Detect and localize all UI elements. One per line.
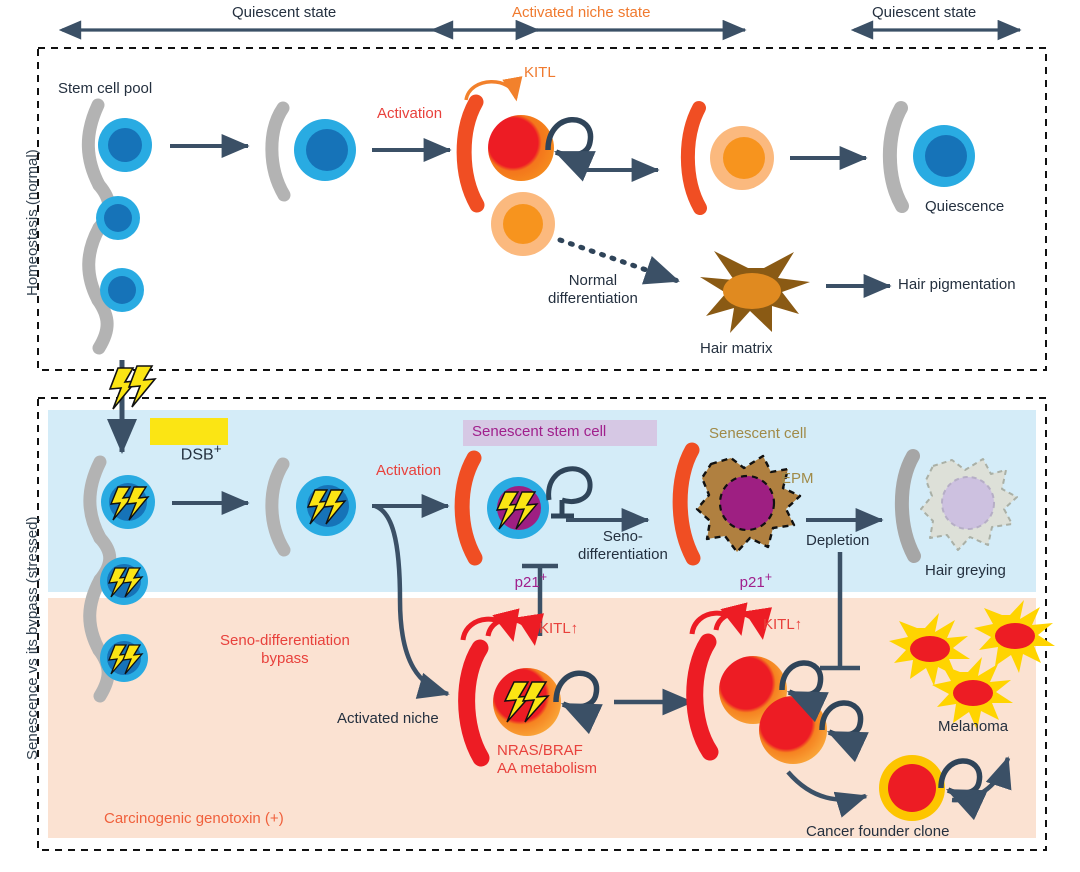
label-p21-left: p21+ bbox=[498, 552, 547, 609]
axis-label-activated-niche: Activated niche state bbox=[512, 4, 650, 22]
label-hair-pigmentation: Hair pigmentation bbox=[898, 276, 1016, 294]
damaged-stem-cell bbox=[101, 475, 155, 529]
hair-matrix-cell bbox=[700, 251, 810, 333]
label-epm: EPM bbox=[781, 470, 814, 488]
p21-mid-sup: + bbox=[765, 570, 772, 584]
activated-niche-top bbox=[464, 102, 554, 205]
label-kitl-up-left: KITL↑ bbox=[539, 620, 578, 638]
label-depletion: Depletion bbox=[806, 532, 869, 550]
differentiating-cell-top bbox=[491, 192, 555, 256]
p21-mid-text: p21 bbox=[740, 574, 765, 591]
label-activation-top: Activation bbox=[377, 105, 442, 123]
label-normal-differentiation: Normaldifferentiation bbox=[548, 272, 638, 307]
label-nras-braf: NRAS/BRAFAA metabolism bbox=[497, 742, 597, 777]
label-quiescence: Quiescence bbox=[925, 198, 1004, 216]
lightning-bolt-icon-stress bbox=[110, 366, 155, 409]
stem-cell-pool-group bbox=[96, 118, 152, 312]
p21-left-text: p21 bbox=[515, 574, 540, 591]
dsb-superscript: + bbox=[214, 441, 222, 456]
label-stem-cell-pool: Stem cell pool bbox=[58, 80, 152, 98]
niche-differentiated-cell-top bbox=[688, 108, 774, 208]
label-kitl-up-right: KITL↑ bbox=[763, 616, 802, 634]
damaged-stem-cells-group bbox=[100, 475, 155, 682]
axis-label-quiescent-right: Quiescent state bbox=[872, 4, 976, 22]
label-melanoma: Melanoma bbox=[938, 718, 1008, 736]
label-kitl-top: KITL bbox=[524, 64, 556, 82]
p21-left-sup: + bbox=[540, 570, 547, 584]
label-activated-niche: Activated niche bbox=[337, 710, 439, 728]
damaged-stem-cell bbox=[100, 557, 148, 605]
row-label-senescence: Senescence vs its bypass (stressed) bbox=[24, 517, 41, 760]
label-hair-matrix: Hair matrix bbox=[700, 340, 773, 358]
senescent-stem-cell-badge-label: Senescent stem cell bbox=[472, 423, 606, 441]
damaged-stem-cell bbox=[100, 634, 148, 682]
label-seno-bypass: Seno-differentiationbypass bbox=[220, 632, 350, 667]
cancer-founder-clone bbox=[879, 755, 945, 821]
dsb-badge-label: DSB+ bbox=[163, 422, 221, 484]
label-hair-greying: Hair greying bbox=[925, 562, 1006, 580]
label-activation-bottom: Activation bbox=[376, 462, 441, 480]
axis-label-quiescent-left: Quiescent state bbox=[232, 4, 336, 22]
figure-root: Quiescent state Activated niche state Qu… bbox=[0, 0, 1080, 872]
dsb-text: DSB bbox=[181, 446, 214, 463]
self-renewal-loop-top bbox=[548, 120, 591, 155]
label-p21-mid: p21+ bbox=[723, 552, 772, 609]
row-label-homeostasis: Homeostasis (normal) bbox=[24, 149, 41, 296]
label-seno-differentiation: Seno-differentiation bbox=[578, 528, 668, 563]
label-senescent-cell: Senescent cell bbox=[709, 425, 807, 443]
label-cancer-founder-clone: Cancer founder clone bbox=[806, 823, 949, 841]
quiescence-cell-top bbox=[890, 108, 975, 206]
quiescent-stem-cell-top bbox=[272, 108, 356, 195]
label-carcinogenic-genotoxin: Carcinogenic genotoxin (+) bbox=[104, 810, 284, 828]
